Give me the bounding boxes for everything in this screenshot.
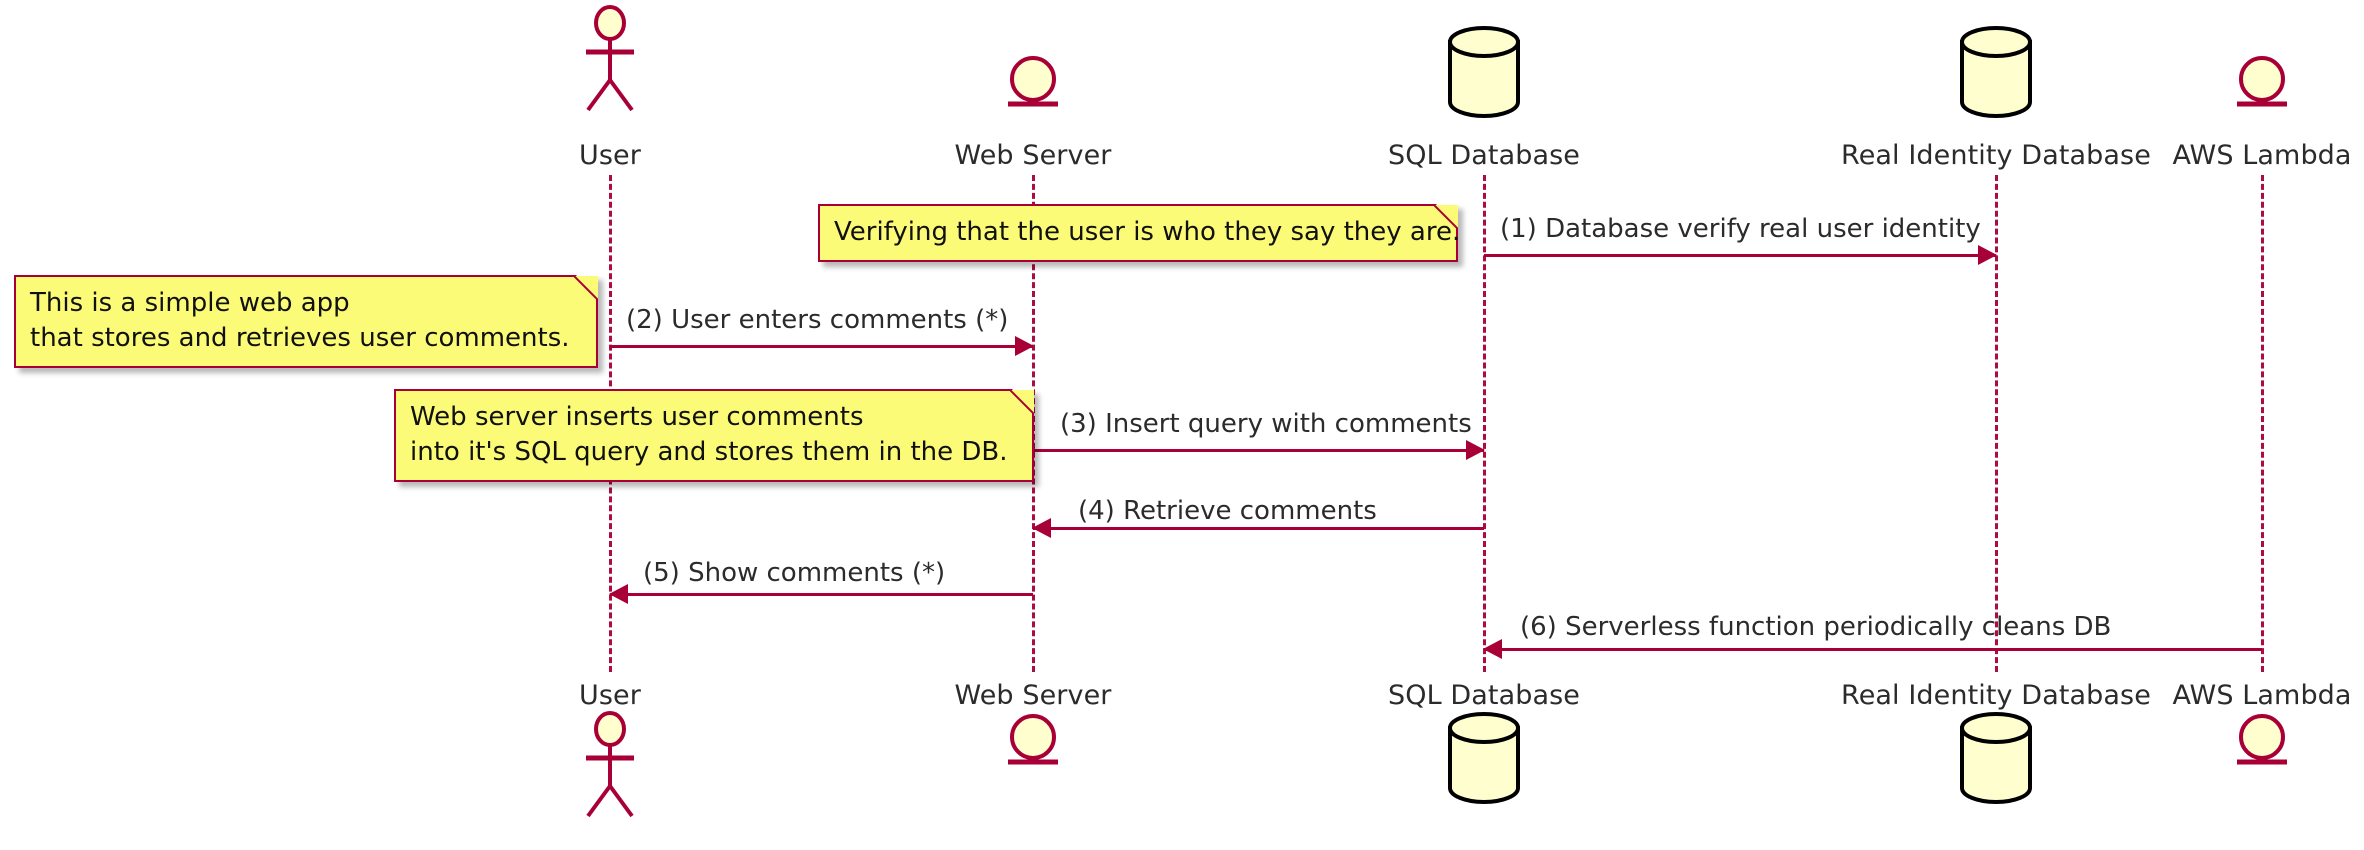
note-fold-corner-icon bbox=[1436, 204, 1458, 226]
participant-label-ident-foot: Real Identity Database bbox=[1841, 680, 2151, 711]
arrowhead-icon-6 bbox=[1483, 639, 1502, 659]
message-line-3 bbox=[1033, 449, 1484, 452]
lifeline-lambda bbox=[2261, 175, 2264, 672]
actor-icon-user-head bbox=[577, 6, 643, 114]
arrowhead-icon-4 bbox=[1032, 518, 1051, 538]
message-line-5 bbox=[610, 593, 1033, 596]
participant-label-ident-head: Real Identity Database bbox=[1841, 140, 2151, 171]
arrowhead-icon-5 bbox=[609, 584, 628, 604]
entity-icon-lambda-head bbox=[2231, 54, 2293, 116]
lifeline-sql bbox=[1483, 175, 1486, 672]
message-line-2 bbox=[610, 345, 1033, 348]
participant-label-user-head: User bbox=[579, 140, 641, 171]
participant-label-web-head: Web Server bbox=[955, 140, 1112, 171]
actor-icon-user-foot bbox=[577, 712, 643, 820]
participant-label-lambda-head: AWS Lambda bbox=[2172, 140, 2351, 171]
entity-icon-web-head bbox=[1002, 54, 1064, 116]
message-line-1 bbox=[1484, 254, 1996, 257]
message-label-5: (5) Show comments (*) bbox=[643, 558, 945, 588]
note-insert: Web server inserts user comments into it… bbox=[394, 389, 1034, 482]
message-label-3: (3) Insert query with comments bbox=[1060, 409, 1472, 439]
note-webapp-text: This is a simple web app that stores and… bbox=[30, 286, 582, 356]
participant-label-user-foot: User bbox=[579, 680, 641, 711]
participant-label-sql-head: SQL Database bbox=[1388, 140, 1580, 171]
database-icon-sql-foot bbox=[1444, 712, 1524, 804]
database-icon-ident-head bbox=[1956, 26, 2036, 118]
message-line-6 bbox=[1484, 648, 2262, 651]
arrowhead-icon-2 bbox=[1015, 336, 1034, 356]
arrowhead-icon-3 bbox=[1466, 440, 1485, 460]
entity-icon-web-foot bbox=[1002, 712, 1064, 774]
participant-label-lambda-foot: AWS Lambda bbox=[2172, 680, 2351, 711]
message-line-4 bbox=[1033, 527, 1484, 530]
note-fold-corner-icon bbox=[576, 275, 598, 297]
message-label-6: (6) Serverless function periodically cle… bbox=[1520, 612, 2111, 642]
note-insert-text: Web server inserts user comments into it… bbox=[410, 400, 1018, 470]
participant-label-sql-foot: SQL Database bbox=[1388, 680, 1580, 711]
message-label-4: (4) Retrieve comments bbox=[1078, 496, 1377, 526]
note-fold-corner-icon bbox=[1012, 389, 1034, 411]
note-verify: Verifying that the user is who they say … bbox=[818, 204, 1458, 262]
database-icon-ident-foot bbox=[1956, 712, 2036, 804]
database-icon-sql-head bbox=[1444, 26, 1524, 118]
sequence-diagram-canvas: User Web Server SQL Database Real Identi… bbox=[0, 0, 2364, 850]
message-label-1: (1) Database verify real user identity bbox=[1500, 214, 1981, 244]
arrowhead-icon-1 bbox=[1978, 245, 1997, 265]
note-verify-text: Verifying that the user is who they say … bbox=[834, 215, 1442, 250]
participant-label-web-foot: Web Server bbox=[955, 680, 1112, 711]
note-webapp: This is a simple web app that stores and… bbox=[14, 275, 598, 368]
message-label-2: (2) User enters comments (*) bbox=[626, 305, 1008, 335]
entity-icon-lambda-foot bbox=[2231, 712, 2293, 774]
